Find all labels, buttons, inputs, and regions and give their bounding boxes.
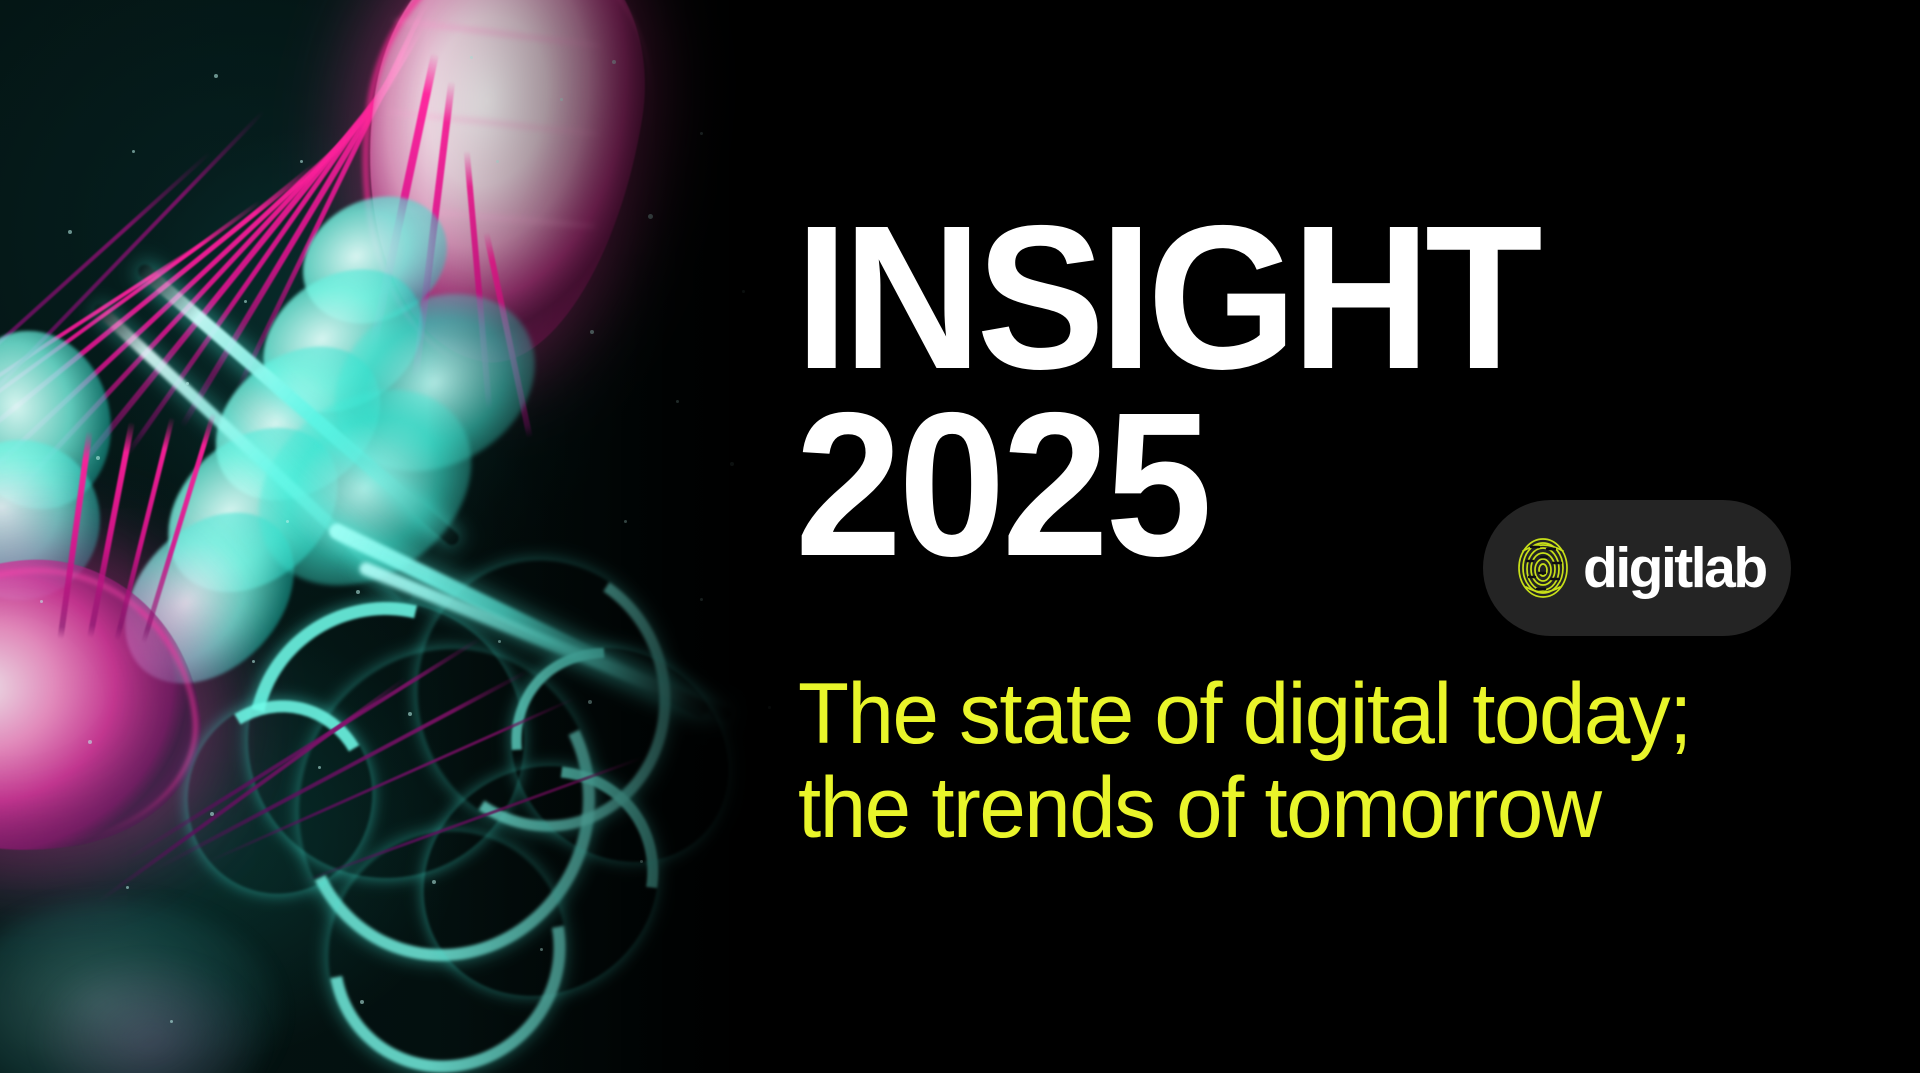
page-title-line1: INSIGHT (795, 208, 1537, 388)
hero-content: INSIGHT 2025 (795, 0, 1920, 1073)
page-title-line2: 2025 (795, 395, 1209, 575)
fingerprint-icon (1517, 537, 1569, 599)
digitlab-wordmark: digitlab (1583, 540, 1766, 597)
jellyfish-artwork (0, 0, 820, 1073)
slide-canvas: INSIGHT 2025 (0, 0, 1920, 1073)
page-subtitle: The state of digital today; the trends o… (798, 668, 1691, 855)
digitlab-logo[interactable]: digitlab (1483, 500, 1791, 636)
marine-snow (0, 0, 820, 1073)
